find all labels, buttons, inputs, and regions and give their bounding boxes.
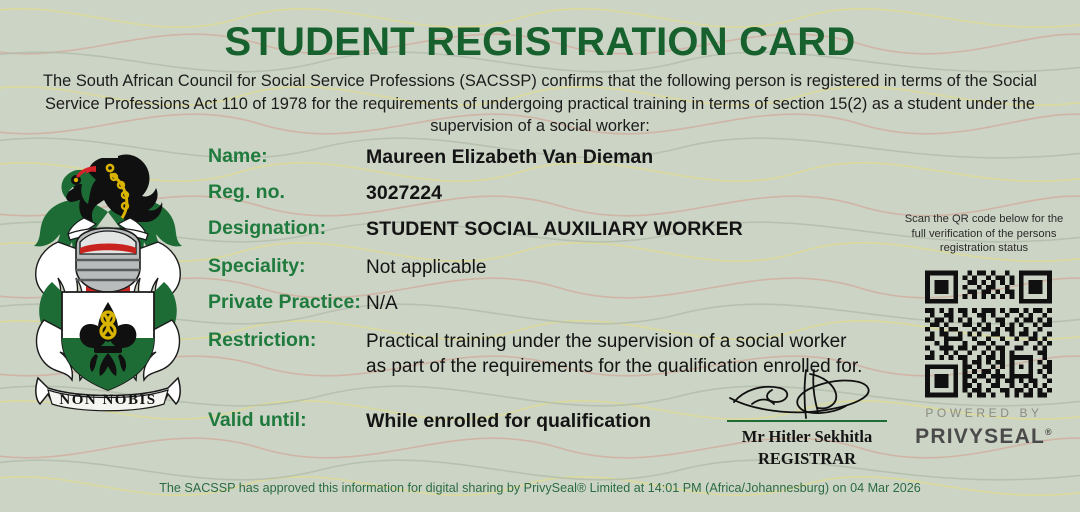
field-value-private-practice: N/A xyxy=(366,291,398,316)
page-title: STUDENT REGISTRATION CARD xyxy=(0,20,1080,65)
handwritten-signature xyxy=(722,368,892,420)
signature-block: Mr Hitler Sekhitla REGISTRAR xyxy=(712,368,902,470)
qr-code[interactable] xyxy=(917,266,1060,402)
privyseal-name: PRIVYSEAL xyxy=(915,425,1045,448)
signature-line xyxy=(727,420,887,422)
privyseal-wordmark: PRIVYSEAL® xyxy=(902,420,1066,449)
intro-paragraph: The South African Council for Social Ser… xyxy=(34,70,1046,138)
field-label-private-practice: Private Practice: xyxy=(208,291,361,314)
field-label-restriction: Restriction: xyxy=(208,329,316,352)
field-label-speciality: Speciality: xyxy=(208,255,306,278)
registrar-name: Mr Hitler Sekhitla xyxy=(712,426,902,448)
field-label-reg-no: Reg. no. xyxy=(208,181,285,204)
powered-by-label: POWERED BY xyxy=(902,406,1066,420)
registrar-role: REGISTRAR xyxy=(712,448,902,470)
coat-of-arms-emblem: NON NOBIS xyxy=(18,142,198,414)
field-value-valid-until: While enrolled for qualification xyxy=(366,409,651,434)
field-value-name: Maureen Elizabeth Van Dieman xyxy=(366,145,653,170)
privyseal-branding: POWERED BY PRIVYSEAL® xyxy=(902,406,1066,449)
field-value-reg-no: 3027224 xyxy=(366,181,442,206)
trademark-symbol: ® xyxy=(1045,427,1053,437)
field-label-name: Name: xyxy=(208,145,268,168)
qr-instruction-text: Scan the QR code below for the full veri… xyxy=(902,212,1066,256)
field-value-designation: STUDENT SOCIAL AUXILIARY WORKER xyxy=(366,217,743,242)
student-registration-card: STUDENT REGISTRATION CARD The South Afri… xyxy=(0,0,1080,512)
field-label-valid-until: Valid until: xyxy=(208,409,307,432)
field-label-designation: Designation: xyxy=(208,217,326,240)
footer-approval-text: The SACSSP has approved this information… xyxy=(0,481,1080,495)
field-value-speciality: Not applicable xyxy=(366,255,486,280)
emblem-motto: NON NOBIS xyxy=(59,392,156,408)
